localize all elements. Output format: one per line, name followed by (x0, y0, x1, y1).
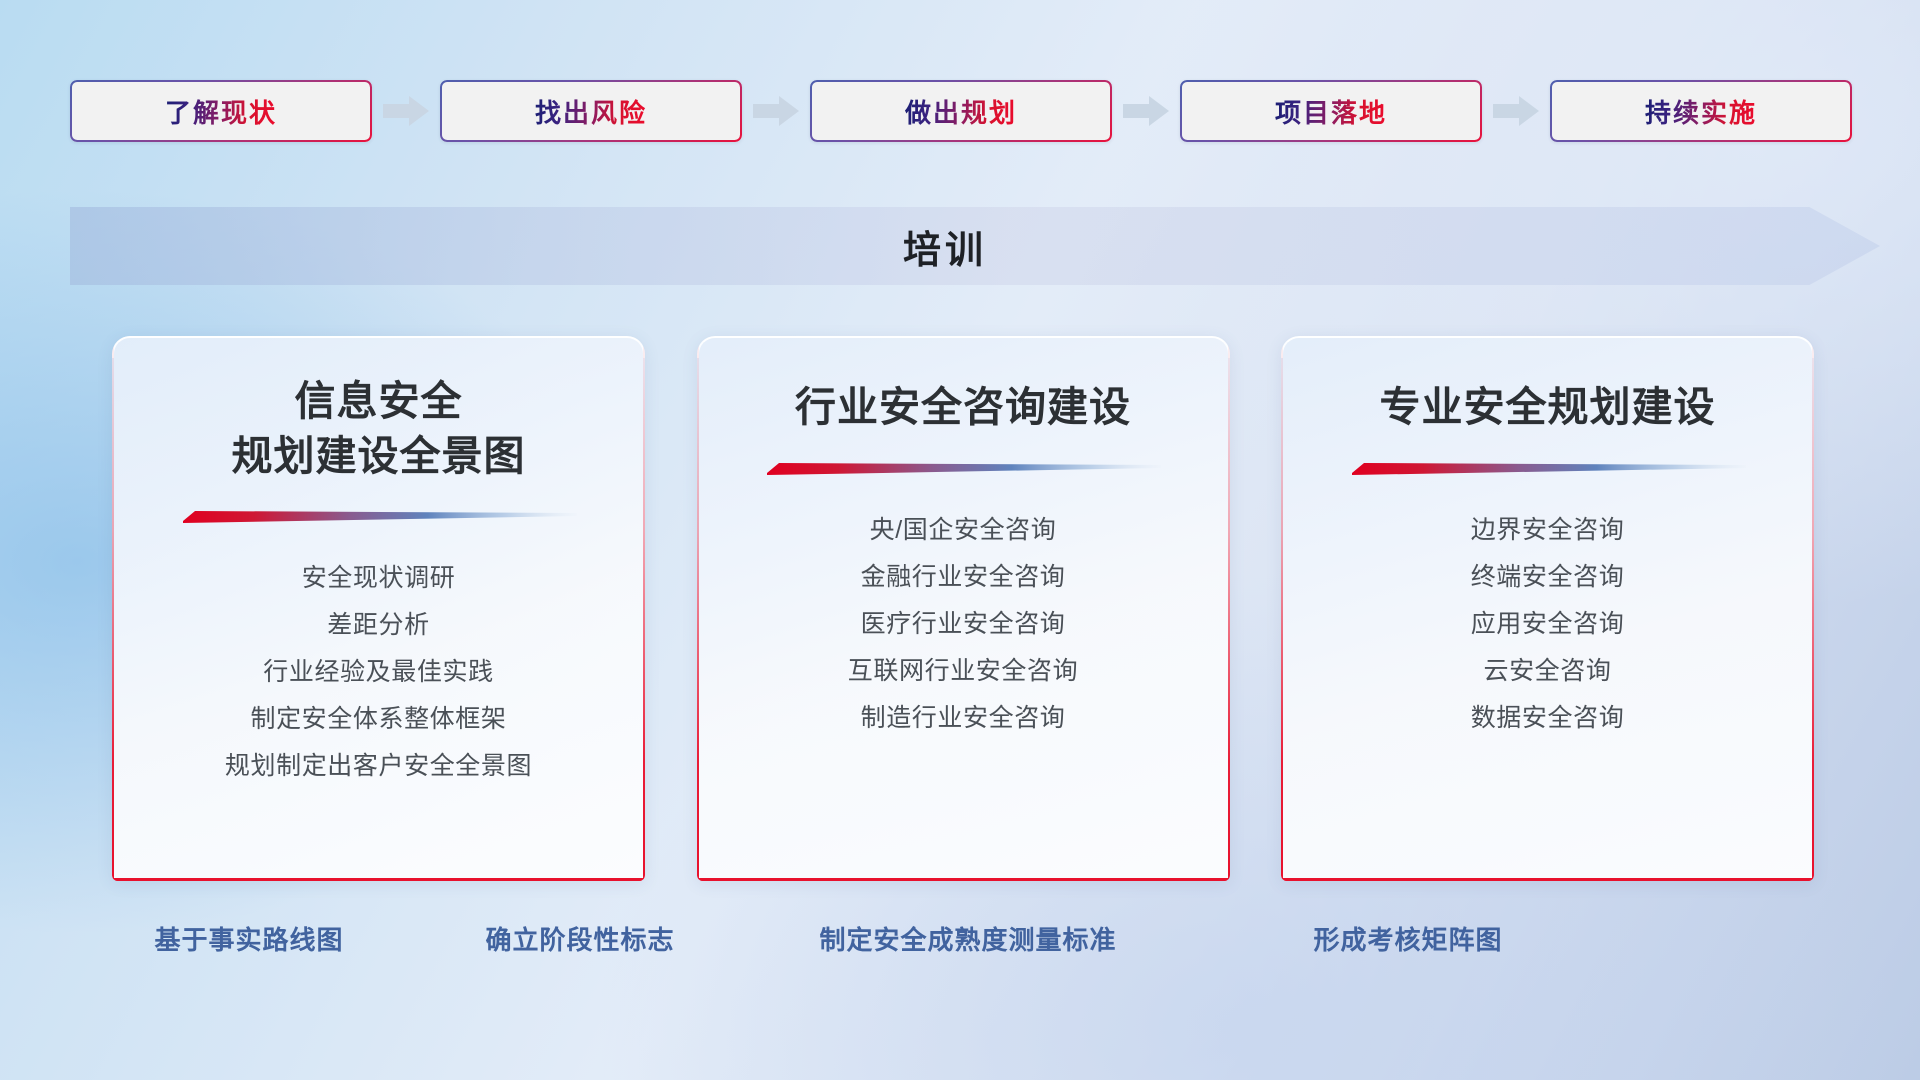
list-item: 应用安全咨询 (1471, 601, 1625, 648)
list-item: 终端安全咨询 (1471, 554, 1625, 601)
step-arrow-icon (1482, 94, 1550, 128)
list-item: 制造行业安全咨询 (848, 695, 1078, 742)
process-step-3[interactable]: 做出规划 (810, 80, 1112, 142)
footer-label-1: 基于事实路线图 (154, 920, 343, 957)
step-arrow-icon (372, 94, 440, 128)
card-title: 行业安全咨询建设 (795, 380, 1131, 435)
card-item-list: 安全现状调研差距分析行业经验及最佳实践制定安全体系整体框架规划制定出客户安全全景… (225, 555, 532, 790)
footer-label-2: 确立阶段性标志 (485, 920, 674, 957)
content-card-3[interactable]: 专业安全规划建设边界安全咨询终端安全咨询应用安全咨询云安全咨询数据安全咨询 (1281, 336, 1814, 881)
card-item-list: 央/国企安全咨询金融行业安全咨询医疗行业安全咨询互联网行业安全咨询制造行业安全咨… (848, 507, 1078, 742)
process-step-2[interactable]: 找出风险 (440, 80, 742, 142)
list-item: 云安全咨询 (1471, 648, 1625, 695)
list-item: 差距分析 (225, 602, 532, 649)
process-step-label: 项目落地 (1275, 93, 1387, 130)
list-item: 制定安全体系整体框架 (225, 696, 532, 743)
card-bottom-accent (112, 878, 645, 881)
list-item: 安全现状调研 (225, 555, 532, 602)
card-divider-line (765, 461, 1161, 477)
list-item: 金融行业安全咨询 (848, 554, 1078, 601)
process-step-1[interactable]: 了解现状 (70, 80, 372, 142)
list-item: 央/国企安全咨询 (848, 507, 1078, 554)
step-arrow-icon (1112, 94, 1180, 128)
process-step-label: 了解现状 (165, 93, 277, 130)
step-arrow-icon (742, 94, 810, 128)
banner-title: 培训 (70, 207, 1880, 285)
list-item: 规划制定出客户安全全景图 (225, 743, 532, 790)
footer-label-3: 制定安全成熟度测量标准 (819, 920, 1116, 957)
content-card-1[interactable]: 信息安全 规划建设全景图安全现状调研差距分析行业经验及最佳实践制定安全体系整体框… (112, 336, 645, 881)
list-item: 医疗行业安全咨询 (848, 601, 1078, 648)
card-divider-line (181, 509, 577, 525)
process-step-label: 做出规划 (905, 93, 1017, 130)
content-card-2[interactable]: 行业安全咨询建设央/国企安全咨询金融行业安全咨询医疗行业安全咨询互联网行业安全咨… (697, 336, 1230, 881)
process-step-label: 找出风险 (535, 93, 647, 130)
process-step-label: 持续实施 (1645, 93, 1757, 130)
card-divider-line (1350, 461, 1746, 477)
list-item: 数据安全咨询 (1471, 695, 1625, 742)
footer-label-row: 基于事实路线图确立阶段性标志制定安全成熟度测量标准形成考核矩阵图 (0, 920, 1920, 968)
process-step-5[interactable]: 持续实施 (1550, 80, 1852, 142)
card-bottom-accent (697, 878, 1230, 881)
card-bottom-accent (1281, 878, 1814, 881)
list-item: 互联网行业安全咨询 (848, 648, 1078, 695)
process-step-row: 了解现状找出风险做出规划项目落地持续实施 (70, 80, 1852, 142)
card-title: 专业安全规划建设 (1380, 380, 1716, 435)
card-title: 信息安全 规划建设全景图 (232, 374, 526, 483)
process-step-4[interactable]: 项目落地 (1180, 80, 1482, 142)
card-item-list: 边界安全咨询终端安全咨询应用安全咨询云安全咨询数据安全咨询 (1471, 507, 1625, 742)
training-banner: 培训 (70, 207, 1880, 285)
slide-root: 了解现状找出风险做出规划项目落地持续实施 培训 信息安全 规划建设全景图安全现状… (0, 0, 1920, 1080)
list-item: 边界安全咨询 (1471, 507, 1625, 554)
footer-label-4: 形成考核矩阵图 (1313, 920, 1502, 957)
card-group: 信息安全 规划建设全景图安全现状调研差距分析行业经验及最佳实践制定安全体系整体框… (112, 336, 1814, 881)
list-item: 行业经验及最佳实践 (225, 649, 532, 696)
